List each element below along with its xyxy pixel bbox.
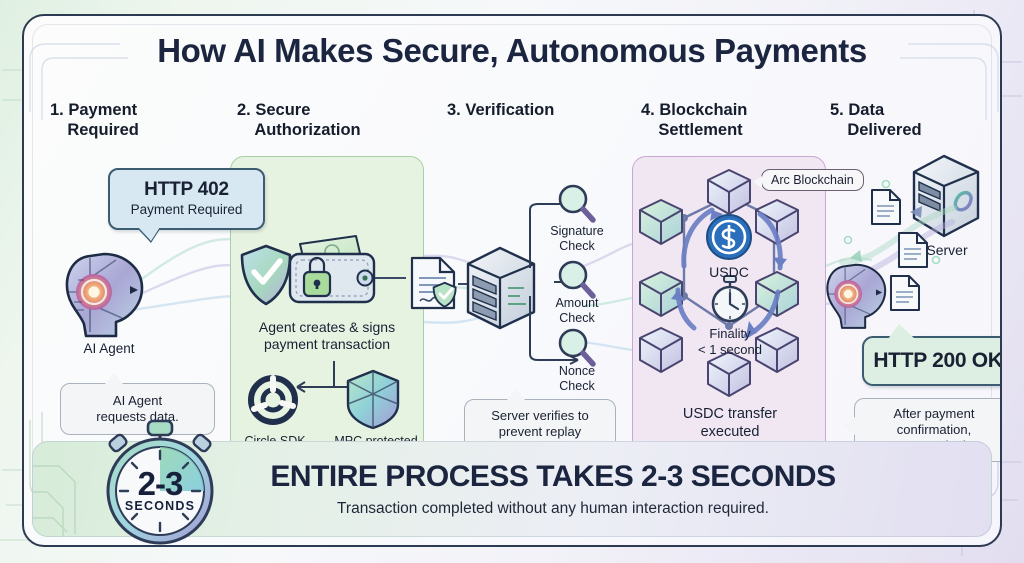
step-header-4: 4. Blockchain Settlement xyxy=(641,100,747,140)
http-200-badge: HTTP 200 OK xyxy=(862,336,1002,386)
signature-check-line1: Signature xyxy=(529,224,625,239)
step-4-title-line1: 4. Blockchain xyxy=(641,101,747,119)
blockchain-ring-diagram xyxy=(632,156,826,446)
signature-check-line2: Check xyxy=(529,239,625,254)
page-title: How AI Makes Secure, Autonomous Payments xyxy=(24,32,1000,70)
nonce-check-line1: Nonce xyxy=(529,364,625,379)
data-delivered-line2: confirmation, xyxy=(861,422,1002,438)
step-header-1: 1. Payment Required xyxy=(50,100,139,140)
http-402-code: HTTP 402 xyxy=(116,178,257,201)
usdc-transfer-line1: USDC transfer xyxy=(640,406,820,424)
step-header-5: 5. Data Delivered xyxy=(830,100,922,140)
usdc-transfer-line2: executed xyxy=(640,424,820,442)
http-402-reason: Payment Required xyxy=(116,202,257,218)
circle-sdk-icon xyxy=(246,373,300,427)
amount-check-line1: Amount xyxy=(529,296,625,311)
step-1-title-line2: Required xyxy=(50,120,139,140)
http-402-tail xyxy=(138,227,160,241)
infographic-canvas: How AI Makes Secure, Autonomous Payments… xyxy=(0,0,1024,563)
banner-subline: Transaction completed without any human … xyxy=(233,500,873,518)
content-frame: How AI Makes Secure, Autonomous Payments… xyxy=(22,14,1002,547)
finality-label: Finality < 1 second xyxy=(672,326,788,358)
signature-check-label: Signature Check xyxy=(529,224,625,255)
step-5-title-line1: 5. Data xyxy=(830,101,884,119)
data-delivered-line1: After payment xyxy=(861,406,1002,422)
usdc-transfer-caption: USDC transfer executed xyxy=(640,406,820,441)
nonce-check-label: Nonce Check xyxy=(529,364,625,395)
step-1-title-line1: 1. Payment xyxy=(50,101,137,119)
finality-line2: < 1 second xyxy=(672,342,788,358)
banner-headline: ENTIRE PROCESS TAKES 2-3 SECONDS xyxy=(233,460,873,494)
step-4-title-line2: Settlement xyxy=(641,120,747,140)
http-402-badge: HTTP 402 Payment Required xyxy=(108,168,265,230)
http-200-tail xyxy=(888,324,915,339)
ai-agent-head-icon-receiving xyxy=(822,256,896,332)
server-verify-line2: prevent replay xyxy=(471,424,609,440)
data-delivered-tail xyxy=(844,417,855,435)
ai-agent-head-icon xyxy=(60,244,156,340)
finality-line1: Finality xyxy=(672,326,788,342)
signed-document-icon xyxy=(406,254,462,312)
delivered-document-icon-1 xyxy=(869,188,903,226)
mpc-protected-icon xyxy=(342,368,404,430)
step-header-3: 3. Verification xyxy=(447,100,554,120)
nonce-check-line2: Check xyxy=(529,379,625,394)
usdc-label: USDC xyxy=(679,264,779,281)
stopwatch-badge: 2-3 SECONDS xyxy=(80,419,240,547)
wallet-shield-lock-icon xyxy=(238,228,428,318)
delivered-document-icon-2 xyxy=(896,231,930,269)
step-5-title-line2: Delivered xyxy=(830,120,922,140)
amount-check-line2: Check xyxy=(529,311,625,326)
http-200-text: HTTP 200 OK xyxy=(873,349,1002,372)
ai-agent-note-tail xyxy=(105,373,123,384)
step-3-title-line1: 3. Verification xyxy=(447,101,554,119)
amount-check-magnifier-icon xyxy=(556,259,598,301)
ai-agent-label: AI Agent xyxy=(44,341,174,357)
step-header-2: 2. Secure Authorization xyxy=(237,100,361,140)
step-2-title-line1: 2. Secure xyxy=(237,101,310,119)
server-verify-tail xyxy=(507,389,525,400)
step2-caption-line2: payment transaction xyxy=(234,336,420,353)
server-verify-line1: Server verifies to xyxy=(471,408,609,424)
nonce-check-magnifier-icon xyxy=(556,327,598,369)
step2-caption: Agent creates & signs payment transactio… xyxy=(234,319,420,353)
stopwatch-unit: SECONDS xyxy=(80,499,240,513)
amount-check-label: Amount Check xyxy=(529,296,625,327)
ai-agent-note-line1: AI Agent xyxy=(67,393,208,409)
step2-caption-line1: Agent creates & signs xyxy=(234,319,420,336)
arc-blockchain-tail xyxy=(753,176,762,188)
signature-check-magnifier-icon xyxy=(556,183,598,225)
stopwatch-value: 2-3 xyxy=(80,465,240,503)
step-2-title-line2: Authorization xyxy=(237,120,361,140)
